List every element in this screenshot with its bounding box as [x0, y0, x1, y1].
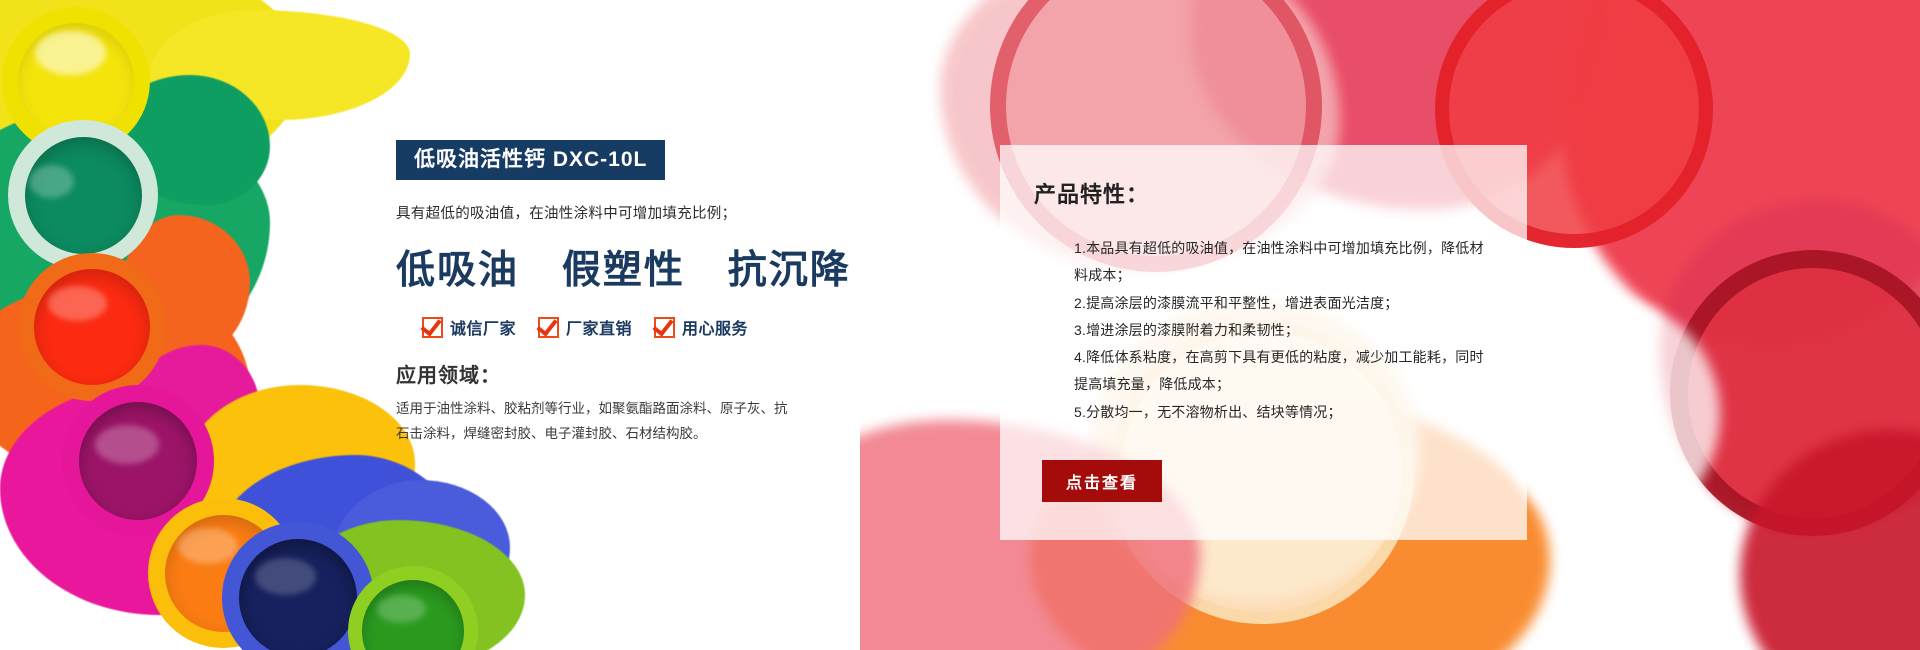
checkbox-checked-icon — [538, 317, 559, 338]
panel-feature-item: 5.分散均一，无不溶物析出、结块等情况； — [1074, 399, 1497, 426]
trust-feature-row: 诚信厂家 厂家直销 用心服务 — [422, 315, 956, 339]
panel-feature-list: 1.本品具有超低的吸油值，在油性涂料中可增加填充比例，降低材料成本； 2.提高涂… — [1034, 235, 1497, 426]
paint-pot-green — [8, 120, 158, 270]
paint-pot-red — [18, 253, 166, 401]
product-tag: 低吸油活性钙 DXC-10L — [396, 140, 665, 180]
application-title: 应用领域： — [396, 359, 956, 388]
trust-feature-label-1: 诚信厂家 — [450, 315, 516, 339]
trust-feature-2: 厂家直销 — [538, 315, 632, 339]
panel-feature-item: 2.提高涂层的漆膜流平和平整性，增进表面光洁度； — [1074, 290, 1497, 317]
banner-subtitle: 具有超低的吸油值，在油性涂料中可增加填充比例； — [396, 202, 956, 223]
checkbox-checked-icon — [422, 317, 443, 338]
headline: 低吸油 假塑性 抗沉降 — [396, 239, 956, 295]
trust-feature-3: 用心服务 — [654, 315, 748, 339]
headline-word-3: 抗沉降 — [728, 249, 851, 292]
promo-banner: 低吸油活性钙 DXC-10L 具有超低的吸油值，在油性涂料中可增加填充比例； 低… — [0, 0, 1920, 650]
checkbox-checked-icon — [654, 317, 675, 338]
panel-feature-item: 4.降低体系粘度，在高剪下具有更低的粘度，减少加工能耗，同时提高填充量，降低成本… — [1074, 344, 1497, 399]
trust-feature-label-3: 用心服务 — [682, 315, 748, 339]
product-features-panel: 产品特性： 1.本品具有超低的吸油值，在油性涂料中可增加填充比例，降低材料成本；… — [1000, 145, 1527, 540]
banner-copy-block: 低吸油活性钙 DXC-10L 具有超低的吸油值，在油性涂料中可增加填充比例； 低… — [396, 140, 956, 447]
paint-wash-white-highlight — [1500, 300, 1720, 530]
panel-feature-item: 3.增进涂层的漆膜附着力和柔韧性； — [1074, 317, 1497, 344]
view-details-button[interactable]: 点击查看 — [1042, 460, 1162, 502]
trust-feature-1: 诚信厂家 — [422, 315, 516, 339]
headline-word-2: 假塑性 — [562, 249, 685, 292]
trust-feature-label-2: 厂家直销 — [566, 315, 632, 339]
panel-feature-item: 1.本品具有超低的吸油值，在油性涂料中可增加填充比例，降低材料成本； — [1074, 235, 1497, 290]
panel-title: 产品特性： — [1034, 177, 1497, 209]
application-body: 适用于油性涂料、胶粘剂等行业，如聚氨酯路面涂料、原子灰、抗石击涂料，焊缝密封胶、… — [396, 397, 796, 447]
headline-word-1: 低吸油 — [396, 249, 519, 292]
